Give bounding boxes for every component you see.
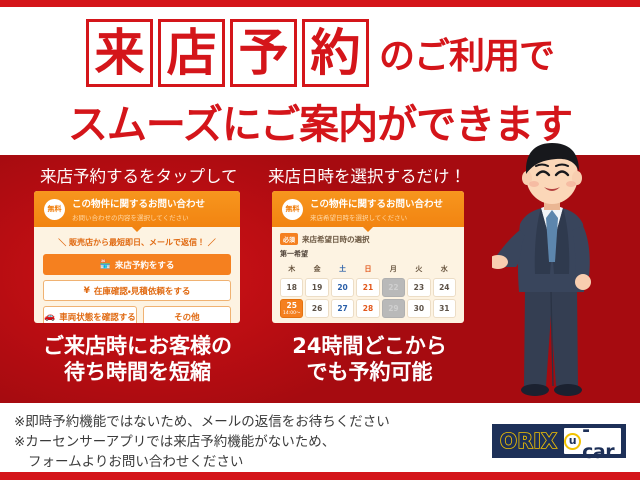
disclaimer-line-3: フォームよりお問い合わせください	[14, 452, 464, 472]
reply-note: ＼ 販売店から最短即日、メールで返信！ ／	[34, 237, 240, 248]
calendar-day-cell: 29	[382, 299, 405, 318]
disclaimer-notes: ※即時予約機能ではないため、メールの返信をお待ちください ※カーセンサーアプリで…	[14, 412, 464, 472]
calendar-weekday-header: 金	[305, 262, 328, 276]
calendar-mockup: 無料 この物件に関するお問い合わせ 来店希望日時を選択してください 必須 来店希…	[272, 191, 464, 323]
orix-ucar-logo: ORIX u -car	[492, 424, 626, 458]
calendar-day-cell[interactable]: 23	[407, 278, 430, 297]
right-column-heading: 来店日時を選択するだけ！	[268, 163, 466, 187]
bottom-red-rule	[0, 472, 640, 480]
mock-button-visit-reservation[interactable]: 🏪 来店予約をする	[43, 254, 231, 275]
calendar-mock-title: この物件に関するお問い合わせ	[310, 196, 443, 210]
free-badge-icon: 無料	[44, 199, 65, 220]
right-caption-line-2: でも予約可能	[262, 359, 477, 385]
calendar-day-number: 18	[286, 283, 296, 292]
headline-line-1: 来 店 予 約 のご利用で	[0, 17, 640, 89]
required-tag: 必須	[280, 233, 298, 245]
calendar-day-number: 31	[439, 304, 449, 313]
calendar-tag-line: 必須 来店希望日時の選択	[280, 233, 456, 245]
header-notch-icon	[131, 226, 143, 232]
boxed-kanji-4: 約	[302, 19, 369, 87]
car-icon: 🚗	[44, 312, 55, 322]
calendar-weekday-header: 水	[433, 262, 456, 276]
calendar-day-cell[interactable]: 28	[356, 299, 379, 318]
mock-button-row: 🚗 車両状態を確認する その他	[43, 306, 231, 323]
calendar-weekday-header: 木	[280, 262, 303, 276]
calendar-day-cell[interactable]: 21	[356, 278, 379, 297]
calendar-day-cell[interactable]: 2514:00〜	[280, 299, 303, 318]
businessman-illustration	[492, 140, 610, 405]
calendar-day-time: 14:00〜	[283, 310, 300, 316]
calendar-day-cell[interactable]: 31	[433, 299, 456, 318]
boxed-kanji-2: 店	[158, 19, 225, 87]
mock-button-stock-quote-label: 在庫確認・見積依頼をする	[94, 285, 190, 297]
calendar-day-cell[interactable]: 18	[280, 278, 303, 297]
mock-button-vehicle-condition-label: 車両状態を確認する	[59, 311, 136, 323]
advertisement-banner: 来 店 予 約 のご利用で スムーズにご案内ができます 来店予約するをタップして…	[0, 0, 640, 480]
boxed-kanji-group: 来 店 予 約	[86, 19, 369, 87]
left-caption-line-2: 待ち時間を短縮	[20, 359, 255, 385]
header-notch-icon	[362, 226, 374, 232]
top-red-rule	[0, 0, 640, 7]
boxed-kanji-3: 予	[230, 19, 297, 87]
yen-icon: ¥	[84, 286, 90, 296]
store-icon: 🏪	[100, 260, 111, 270]
calendar-day-number: 21	[363, 283, 373, 292]
inquiry-mock-header: 無料 この物件に関するお問い合わせ お問い合わせの内容を選択してください	[34, 191, 240, 227]
calendar-day-number: 19	[312, 283, 322, 292]
calendar-day-cell[interactable]: 30	[407, 299, 430, 318]
calendar-day-cell[interactable]: 27	[331, 299, 354, 318]
mock-button-visit-reservation-label: 来店予約をする	[115, 259, 175, 271]
logo-ucar-badge: u -car	[564, 428, 621, 454]
inquiry-mock-subtitle: お問い合わせの内容を選択してください	[72, 212, 205, 222]
mock-button-other-label: その他	[174, 311, 200, 323]
headline-block: 来 店 予 約 のご利用で スムーズにご案内ができます	[0, 7, 640, 155]
right-caption: 24時間どこから でも予約可能	[262, 333, 477, 385]
mock-button-other[interactable]: その他	[143, 306, 231, 323]
logo-ucar-text: -car	[582, 419, 621, 463]
disclaimer-line-1: ※即時予約機能ではないため、メールの返信をお待ちください	[14, 412, 464, 432]
calendar-day-number: 28	[363, 304, 373, 313]
calendar-day-number: 24	[439, 283, 449, 292]
calendar-day-cell[interactable]: 19	[305, 278, 328, 297]
calendar-day-number: 20	[337, 283, 347, 292]
calendar-body: 必須 来店希望日時の選択 第一希望 木金土日月火水181920212223242…	[272, 227, 464, 318]
mock-button-stock-quote[interactable]: ¥ 在庫確認・見積依頼をする	[43, 280, 231, 301]
circled-u-icon: u	[564, 433, 581, 450]
calendar-day-cell[interactable]: 24	[433, 278, 456, 297]
left-caption: ご来店時にお客様の 待ち時間を短縮	[20, 333, 255, 385]
calendar-mock-subtitle: 来店希望日時を選択してください	[310, 212, 443, 222]
inquiry-form-mockup: 無料 この物件に関するお問い合わせ お問い合わせの内容を選択してください ＼ 販…	[34, 191, 240, 323]
calendar-weekday-header: 火	[407, 262, 430, 276]
mock-button-vehicle-condition[interactable]: 🚗 車両状態を確認する	[43, 306, 137, 323]
boxed-kanji-1: 来	[86, 19, 153, 87]
calendar-weekday-header: 日	[356, 262, 379, 276]
calendar-day-number: 26	[312, 304, 322, 313]
calendar-tag-text: 来店希望日時の選択	[302, 234, 370, 245]
calendar-weekday-header: 月	[382, 262, 405, 276]
calendar-grid: 木金土日月火水181920212223242514:00〜26272829303…	[280, 262, 456, 318]
inquiry-mock-title: この物件に関するお問い合わせ	[72, 196, 205, 210]
calendar-day-number: 30	[414, 304, 424, 313]
right-caption-line-1: 24時間どこから	[262, 333, 477, 359]
calendar-day-cell[interactable]: 20	[331, 278, 354, 297]
left-caption-line-1: ご来店時にお客様の	[20, 333, 255, 359]
inquiry-button-stack: 🏪 来店予約をする ¥ 在庫確認・見積依頼をする 🚗 車両状態を確認する その他	[34, 248, 240, 323]
calendar-day-number: 25	[286, 301, 296, 310]
disclaimer-line-2: ※カーセンサーアプリでは来店予約機能がないため、	[14, 432, 464, 452]
headline-tail-text: のご利用で	[379, 27, 554, 79]
free-badge-icon: 無料	[282, 199, 303, 220]
calendar-day-number: 27	[337, 304, 347, 313]
calendar-mock-header: 無料 この物件に関するお問い合わせ 来店希望日時を選択してください	[272, 191, 464, 227]
calendar-day-number: 29	[388, 304, 398, 313]
calendar-day-cell: 22	[382, 278, 405, 297]
left-column-heading: 来店予約するをタップして	[40, 163, 238, 187]
preference-label: 第一希望	[280, 249, 456, 259]
calendar-day-number: 23	[414, 283, 424, 292]
calendar-weekday-header: 土	[331, 262, 354, 276]
calendar-day-number: 22	[388, 283, 398, 292]
logo-brand-text: ORIX	[493, 429, 564, 453]
calendar-day-cell[interactable]: 26	[305, 299, 328, 318]
